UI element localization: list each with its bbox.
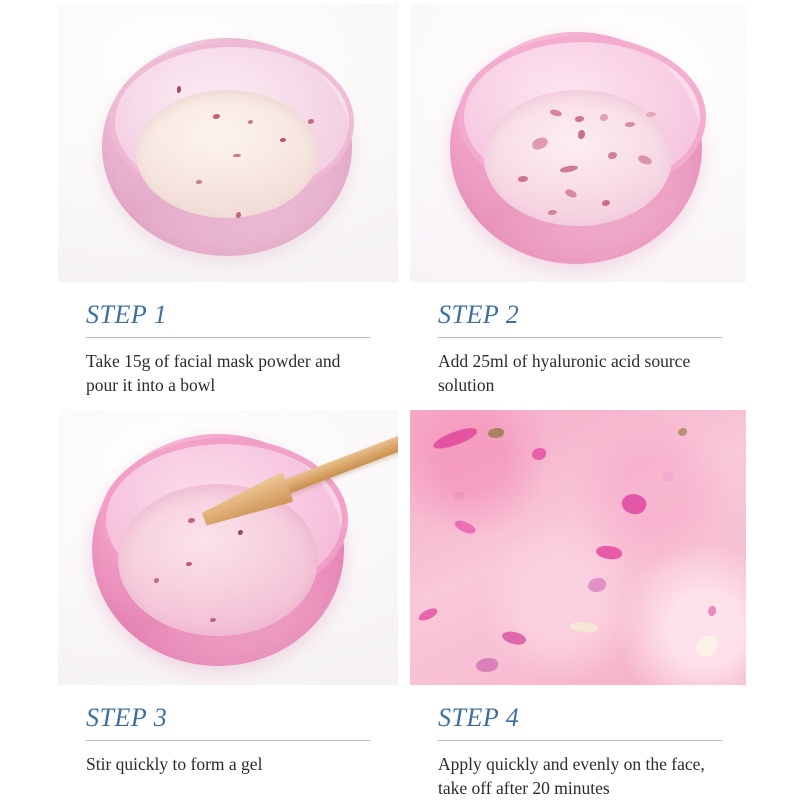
step-2-text: Add 25ml of hyaluronic acid source solut… [438,349,718,397]
step-2-photo [410,4,746,282]
step-4-caption: STEP 4 Apply quickly and evenly on the f… [410,685,746,800]
step-card-1: STEP 1 Take 15g of facial mask powder an… [58,4,398,394]
step-card-3: STEP 3 Stir quickly to form a gel [58,410,398,796]
step-1-photo [58,4,398,282]
step-4-text: Apply quickly and evenly on the face, ta… [438,752,718,800]
step-1-divider [86,337,370,338]
step-3-caption: STEP 3 Stir quickly to form a gel [58,685,398,776]
step-card-2: STEP 2 Add 25ml of hyaluronic acid sourc… [410,4,746,394]
step-1-text: Take 15g of facial mask powder and pour … [86,349,370,397]
step-4-divider [438,740,722,741]
step-1-heading: STEP 1 [86,302,370,328]
instruction-sheet: STEP 1 Take 15g of facial mask powder an… [0,0,800,800]
step-4-heading: STEP 4 [438,705,718,731]
step-3-heading: STEP 3 [86,705,370,731]
mask-powder-fill [136,90,318,218]
step-1-caption: STEP 1 Take 15g of facial mask powder an… [58,282,398,397]
step-card-4: STEP 4 Apply quickly and evenly on the f… [410,410,746,796]
step-2-divider [438,337,722,338]
step-3-divider [86,740,370,741]
step-2-heading: STEP 2 [438,302,718,328]
step-4-photo [410,410,746,685]
step-3-photo [58,410,398,685]
step-3-text: Stir quickly to form a gel [86,752,370,776]
step-2-caption: STEP 2 Add 25ml of hyaluronic acid sourc… [410,282,746,397]
